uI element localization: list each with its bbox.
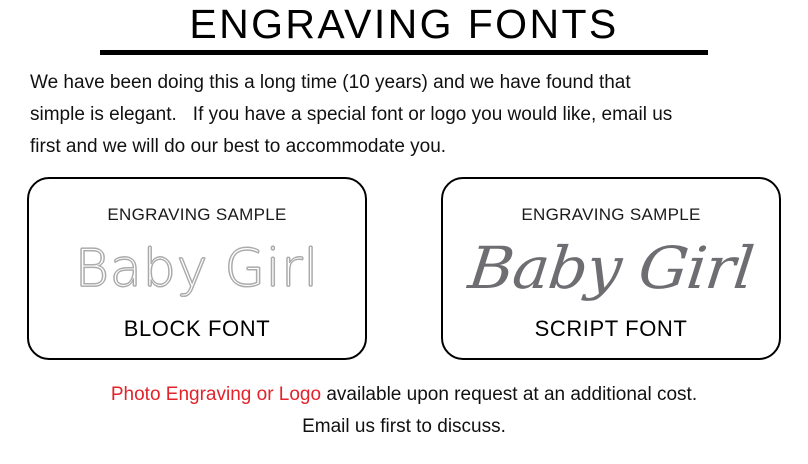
title-underline-rule xyxy=(100,50,708,55)
engraved-text-block: BabyGirl xyxy=(75,239,319,299)
footer-note: Photo Engraving or Logo available upon r… xyxy=(0,379,808,443)
intro-line-2b: If you have a special font or logo you w… xyxy=(193,104,673,125)
intro-line-2a: simple is elegant. xyxy=(30,104,177,125)
sample-card-script-font[interactable]: ENGRAVING SAMPLE Baby Girl SCRIPT FONT xyxy=(441,177,781,360)
footer-line-2: Email us first to discuss. xyxy=(0,411,808,443)
title-block: ENGRAVING FONTS xyxy=(0,0,808,55)
sample-caption: ENGRAVING SAMPLE xyxy=(521,205,700,225)
footer-rest-text: available upon request at an additional … xyxy=(321,384,697,405)
sample-cards-row: ENGRAVING SAMPLE BabyGirl BLOCK FONT ENG… xyxy=(27,177,781,360)
sample-label-script-font: SCRIPT FONT xyxy=(535,316,688,342)
sample-card-block-font[interactable]: ENGRAVING SAMPLE BabyGirl BLOCK FONT xyxy=(27,177,367,360)
engraved-word-girl: Girl xyxy=(225,239,320,299)
footer-highlight-text: Photo Engraving or Logo xyxy=(111,384,321,405)
intro-paragraph: We have been doing this a long time (10 … xyxy=(30,67,778,163)
footer-line-1: Photo Engraving or Logo available upon r… xyxy=(0,379,808,411)
engraved-text-script: Baby Girl xyxy=(465,234,756,302)
sample-label-block-font: BLOCK FONT xyxy=(124,316,271,342)
sample-word-container: Baby Girl xyxy=(443,225,779,316)
engraved-word-baby: Baby xyxy=(75,239,209,299)
page-title: ENGRAVING FONTS xyxy=(0,2,808,46)
intro-line-1: We have been doing this a long time (10 … xyxy=(30,72,631,93)
sample-caption: ENGRAVING SAMPLE xyxy=(107,205,286,225)
sample-word-container: BabyGirl xyxy=(29,225,365,316)
intro-line-3: first and we will do our best to accommo… xyxy=(30,136,446,157)
